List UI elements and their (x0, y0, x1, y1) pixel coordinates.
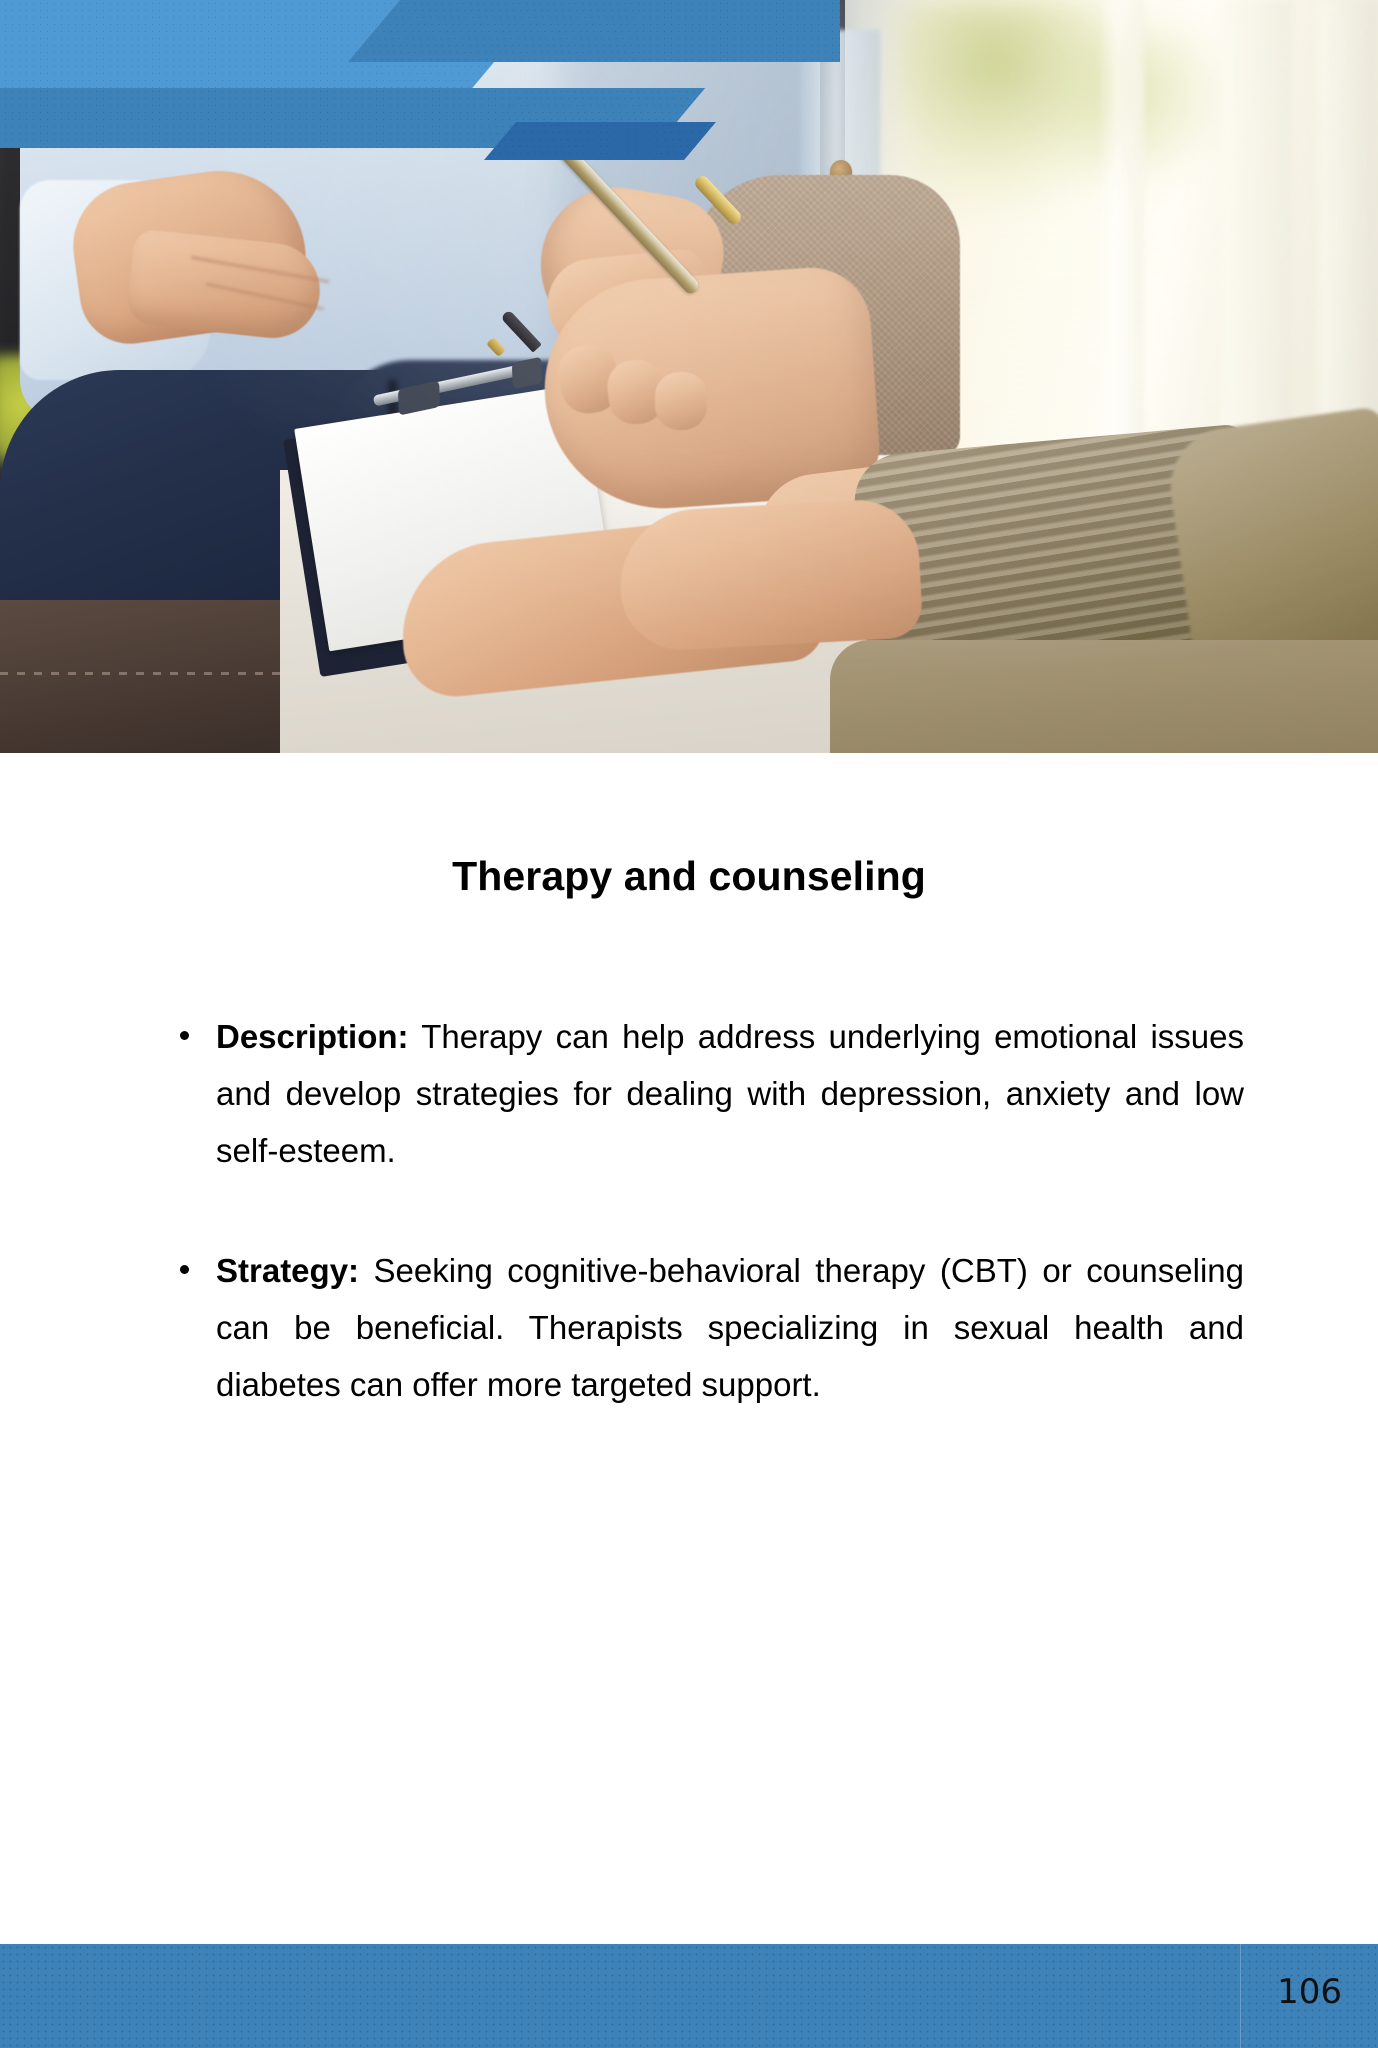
hero-image (0, 0, 1378, 753)
bullet-dot-icon (180, 1031, 189, 1040)
list-item: Strategy: Seeking cognitive-behavioral t… (172, 1243, 1244, 1413)
bullet-body-text: Seeking cognitive-behavioral therapy (CB… (216, 1252, 1244, 1403)
bullet-lead-label: Strategy: (216, 1252, 359, 1289)
slide-content: Therapy and counseling Description: Ther… (0, 753, 1378, 1944)
bullet-lead-label: Description: (216, 1018, 409, 1055)
bullet-text: Strategy: Seeking cognitive-behavioral t… (216, 1243, 1244, 1413)
client-hand-foreground-secondary (617, 497, 924, 653)
slide-page: Therapy and counseling Description: Ther… (0, 0, 1378, 2048)
page-title: Therapy and counseling (0, 853, 1378, 900)
therapy-session-photo (0, 0, 1378, 753)
page-number: 106 (1277, 1972, 1342, 2012)
bullet-text: Description: Therapy can help address un… (216, 1009, 1244, 1179)
therapist-knuckle (655, 372, 707, 430)
couch-seam (0, 672, 300, 675)
footer-divider (1240, 1944, 1241, 2048)
list-item: Description: Therapy can help address un… (172, 1009, 1244, 1179)
page-footer: 106 (0, 1944, 1378, 2048)
bullet-list: Description: Therapy can help address un… (172, 1009, 1244, 1414)
knit-sweater-lower (830, 640, 1378, 753)
bullet-dot-icon (180, 1265, 189, 1274)
